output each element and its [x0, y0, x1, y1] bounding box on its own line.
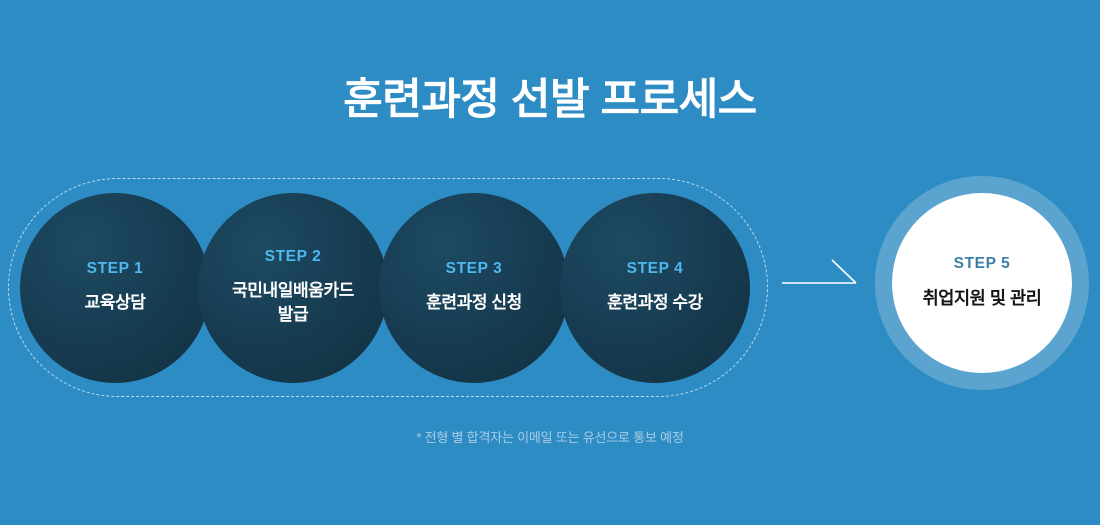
- step-3-label: STEP 3: [446, 261, 503, 277]
- step-circle-1[interactable]: STEP 1 교육상담: [20, 193, 210, 383]
- step-circle-2[interactable]: STEP 2 국민내일배움카드발급: [198, 193, 388, 383]
- footnote-text: * 전형 별 합격자는 이메일 또는 유선으로 통보 예정: [0, 427, 1100, 446]
- step-5-label: STEP 5: [954, 256, 1011, 272]
- step-4-text: 훈련과정 수강: [607, 291, 703, 315]
- step-1-label: STEP 1: [87, 261, 144, 277]
- step-5-text: 취업지원 및 관리: [923, 286, 1042, 311]
- arrow-right-icon: [782, 250, 866, 312]
- step-circle-4[interactable]: STEP 4 훈련과정 수강: [560, 193, 750, 383]
- page-title: 훈련과정 선발 프로세스: [0, 76, 1100, 125]
- step-2-text: 국민내일배움카드발급: [232, 279, 354, 327]
- step-circle-5[interactable]: STEP 5 취업지원 및 관리: [892, 193, 1072, 373]
- step-2-label: STEP 2: [265, 249, 322, 265]
- step-1-text: 교육상담: [85, 291, 146, 315]
- final-step-ring: STEP 5 취업지원 및 관리: [875, 176, 1089, 390]
- step-3-text: 훈련과정 신청: [426, 291, 522, 315]
- step-circle-3[interactable]: STEP 3 훈련과정 신청: [379, 193, 569, 383]
- step-4-label: STEP 4: [627, 261, 684, 277]
- process-diagram: 훈련과정 선발 프로세스 STEP 1 교육상담 STEP 2 국민내일배움카드…: [0, 0, 1100, 525]
